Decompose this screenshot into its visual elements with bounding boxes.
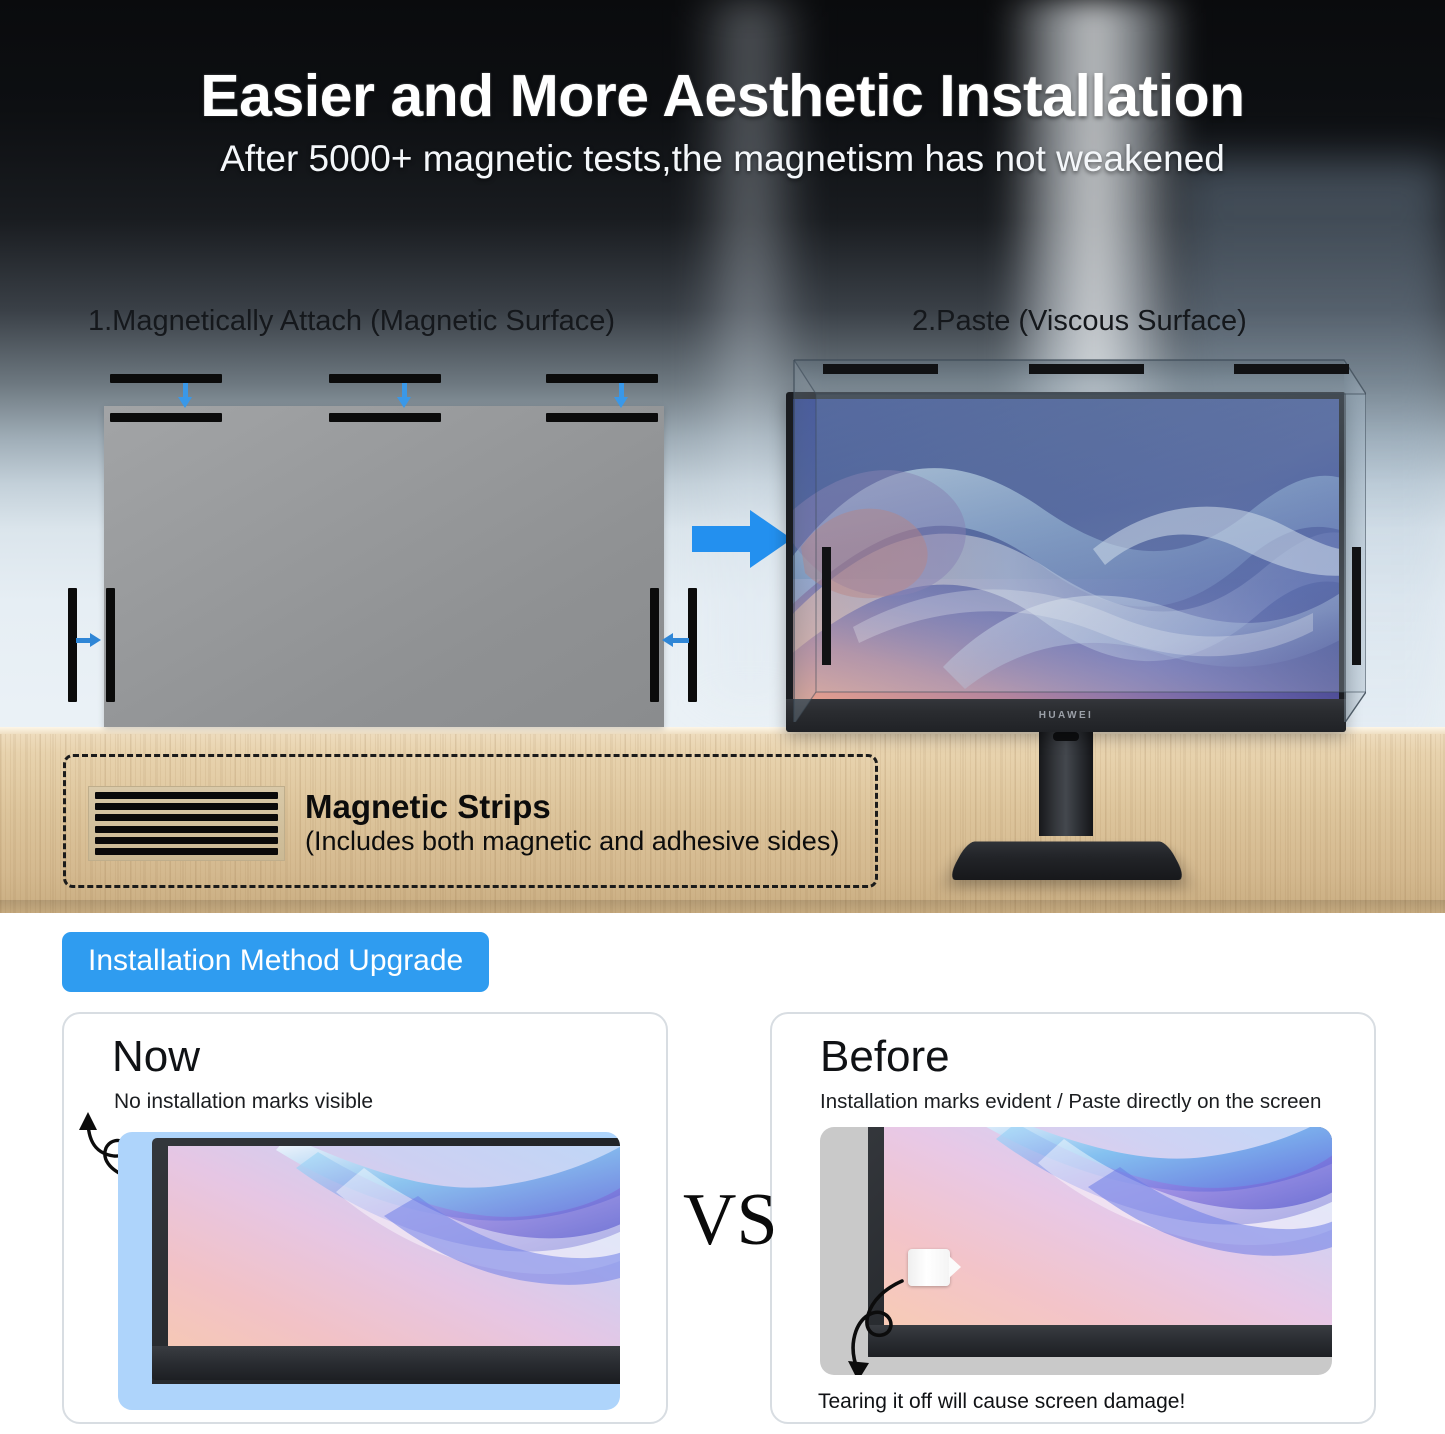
- curved-arrow-down-icon: [836, 1275, 922, 1375]
- swatch-line: [95, 792, 278, 799]
- magnetic-strips-swatch: [88, 786, 285, 861]
- page-headline: Easier and More Aesthetic Installation: [0, 62, 1445, 130]
- card-title-before: Before: [820, 1032, 950, 1082]
- monitor-screen: [793, 399, 1339, 699]
- card-bottom-caption-before: Tearing it off will cause screen damage!: [818, 1390, 1185, 1414]
- desk-shadow: [0, 900, 1445, 913]
- vs-separator-label: VS: [683, 1178, 778, 1263]
- comparison-section: Installation Method Upgrade Now No insta…: [0, 913, 1445, 1434]
- monitor-stand-neck: [1039, 728, 1093, 836]
- comparison-card-now: Now No installation marks visible: [62, 1012, 668, 1424]
- page-subheadline: After 5000+ magnetic tests,the magnetism…: [0, 138, 1445, 180]
- swatch-line: [95, 826, 278, 833]
- magnetic-strip-top-2-floating: [329, 374, 441, 383]
- installation-upgrade-badge: Installation Method Upgrade: [62, 932, 489, 992]
- magnetic-strip-top-3-attached: [546, 413, 658, 422]
- card-title-now: Now: [112, 1032, 200, 1082]
- arrow-left-icon: [662, 633, 689, 648]
- card-subtitle-before: Installation marks evident / Paste direc…: [820, 1090, 1321, 1114]
- mini-screen-wallpaper: [884, 1127, 1332, 1325]
- mini-monitor-screen-before: [884, 1127, 1332, 1325]
- callout-title: Magnetic Strips: [305, 788, 551, 826]
- swatch-line: [95, 814, 278, 821]
- stage-before: [820, 1127, 1332, 1375]
- mini-monitor-chin-now: [152, 1346, 620, 1380]
- arrow-right-icon: [76, 633, 103, 648]
- mini-screen-wallpaper: [168, 1146, 620, 1360]
- swatch-line: [95, 848, 278, 855]
- big-right-arrow-icon: [692, 508, 792, 570]
- callout-subtitle: (Includes both magnetic and adhesive sid…: [305, 826, 839, 857]
- swatch-line: [95, 803, 278, 810]
- magnetic-strip-right-floating: [688, 588, 697, 702]
- swatch-line: [95, 837, 278, 844]
- huawei-brand-logo: HUAWEI: [1039, 710, 1093, 721]
- card-subtitle-now: No installation marks visible: [114, 1090, 373, 1114]
- hero-scene: Easier and More Aesthetic Installation A…: [0, 0, 1445, 913]
- magnetic-strip-top-1-attached: [110, 413, 222, 422]
- step-1-caption: 1.Magnetically Attach (Magnetic Surface): [88, 305, 615, 338]
- magnetic-strip-right-attached: [650, 588, 659, 702]
- privacy-filter-panel: [104, 406, 664, 727]
- monitor-chin: HUAWEI: [786, 699, 1346, 732]
- monitor-stand-base: [947, 842, 1188, 881]
- monitor-bezel: HUAWEI: [786, 392, 1346, 732]
- step-2-caption: 2.Paste (Viscous Surface): [912, 305, 1247, 338]
- magnetic-strip-left-attached: [106, 588, 115, 702]
- comparison-card-before: Before Installation marks evident / Past…: [770, 1012, 1376, 1424]
- magnetic-strip-top-1-floating: [110, 374, 222, 383]
- magnetic-strip-top-3-floating: [546, 374, 658, 383]
- mini-monitor-screen-now: [168, 1146, 620, 1360]
- screen-wallpaper: [793, 399, 1339, 699]
- magnetic-strip-top-2-attached: [329, 413, 441, 422]
- mini-monitor-chin-before: [868, 1325, 1332, 1357]
- stage-now: [118, 1132, 620, 1410]
